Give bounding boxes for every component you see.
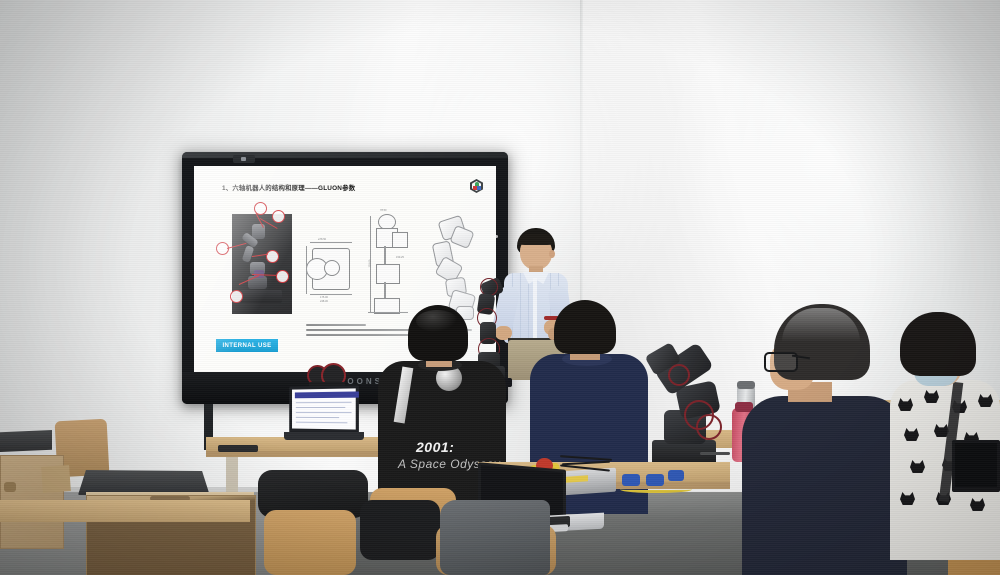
presenter-ear (549, 250, 555, 258)
callout-marker (266, 250, 279, 263)
app-toolbar (295, 391, 359, 398)
slide-title: 1、六轴机器人的结构和原理——GLUON参数 (222, 183, 355, 192)
status-badge: INTERNAL USE (216, 339, 278, 352)
board-top-bezel (182, 152, 508, 158)
tee-text-line1: 2001: (416, 439, 454, 455)
chair (264, 510, 356, 575)
presentation-remote[interactable] (218, 445, 258, 452)
black-bag (360, 500, 440, 560)
callout-marker (276, 270, 289, 283)
blue-vacuum-cup (668, 470, 684, 481)
status-badge-label: INTERNAL USE (222, 343, 271, 349)
presentation-room-photo: 1、六轴机器人的结构和原理——GLUON参数 (0, 0, 1000, 575)
laptop-keyboard-base[interactable] (284, 432, 364, 440)
laptop-screen[interactable] (955, 443, 997, 487)
robot-joint-ring (696, 414, 722, 440)
yellow-cable (620, 486, 692, 493)
dark-equipment-left (0, 430, 52, 452)
desk-foreground-left (0, 500, 250, 522)
camera-gimbal (307, 363, 347, 385)
attendee-hair (554, 300, 616, 354)
box-handle (4, 482, 16, 492)
cad-front-view: ø78.50 175.00 248.30 (304, 238, 356, 304)
attendee-glasses (742, 300, 907, 575)
robot-joint-ring (668, 364, 690, 386)
laptop-screen[interactable] (292, 388, 356, 429)
attendee-hair (900, 312, 976, 376)
laptop-lid (289, 385, 359, 435)
blue-vacuum-cup (622, 474, 640, 486)
gray-jacket-on-chair (440, 500, 550, 575)
laptop-spreadsheet[interactable] (288, 386, 364, 440)
pen[interactable] (700, 452, 730, 455)
cardboard-box-small (41, 465, 71, 493)
hexagon-brand-logo-icon (470, 179, 483, 193)
webcam-lens-icon (241, 157, 246, 161)
cad-side-view: 78.50 159.25 119.00 (366, 212, 412, 316)
callout-marker (272, 210, 285, 223)
blue-vacuum-cup (646, 474, 664, 486)
attendee-hair-highlight (416, 310, 458, 332)
attendee-shirt (742, 396, 907, 575)
callout-marker (230, 290, 243, 303)
presenter-fringe (518, 234, 554, 245)
